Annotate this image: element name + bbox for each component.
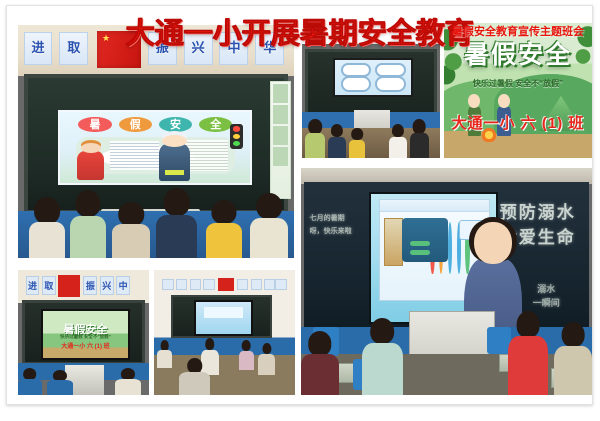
slide-bubble [341, 76, 371, 92]
chalkboard: 暑假安全 快乐过暑假 安全不“放假” 大通一小 六 (1) 班 [22, 300, 145, 365]
photo-teacher-lesson-main: 七月的暑期 呀，快乐来啦 [301, 168, 592, 395]
pupil-silhouette [301, 331, 339, 395]
slide-cover-image [384, 218, 402, 266]
slide-bubble [375, 63, 406, 77]
slide-bubble [375, 76, 406, 92]
pupil-silhouette [349, 128, 366, 158]
pupil-silhouette [410, 119, 429, 158]
chalkboard-left-text: 七月的暑期 呀，快乐来啦 [310, 212, 358, 239]
pupil-silhouette [362, 318, 403, 395]
poster-title-char: 全 [199, 117, 232, 133]
pupil-silhouette [328, 124, 346, 158]
play-button[interactable] [410, 241, 430, 246]
pupil-silhouette [305, 119, 326, 158]
slide-content [204, 307, 243, 318]
wall-card [190, 279, 201, 290]
pupil-silhouette [47, 370, 73, 395]
pupil-silhouette [179, 358, 210, 396]
slide-subtitle: 快乐过暑假 安全不“放假” [43, 334, 127, 340]
poster-class-label: 大通一小 六 (1) 班 [444, 112, 592, 133]
wall-notice-board [270, 81, 291, 200]
poster-title-char: 安 [159, 117, 192, 133]
wall-card [203, 279, 214, 290]
pupil-silhouette [508, 311, 549, 395]
pupil-silhouette [70, 190, 106, 258]
toolbar-dot-icon [448, 222, 452, 274]
wall-card [237, 279, 248, 290]
next-page-button[interactable] [410, 250, 430, 255]
safety-poster: 暑 假 安 全 [58, 110, 252, 185]
slide-class: 大通一小 六 (1) 班 [43, 341, 127, 350]
wall-card: 振 [83, 276, 97, 295]
poster-title-char: 暑 [78, 117, 111, 133]
wall-card [251, 279, 262, 290]
chalkboard-small-text: 溺水 一瞬间 [515, 283, 578, 310]
photo-classroom-poster-large: 进 取 振 兴 中 华 暑 假 安 全 [18, 25, 294, 258]
pupil-silhouette [157, 340, 173, 368]
photo-classroom-screen-topright [302, 44, 440, 158]
slide-bubble [341, 63, 371, 77]
traffic-light-icon [230, 124, 243, 148]
pupil-silhouette [389, 124, 407, 158]
window-titlebar [380, 200, 489, 212]
pupil-silhouette [18, 368, 42, 396]
wall-card [275, 279, 286, 290]
china-flag-icon [218, 278, 234, 292]
chalkboard [171, 295, 273, 338]
poster-text-block [110, 141, 159, 169]
traffic-police-figure [159, 144, 189, 181]
wall-cards [162, 279, 286, 290]
photo-classroom-green-slide: 进 取 振 兴 中 暑假安全 快乐过暑假 安全不“放假” 大通一小 六 (1) … [18, 270, 149, 395]
photo-collage: 进 取 振 兴 中 华 暑 假 安 全 [0, 0, 600, 421]
pupil-silhouette [112, 202, 151, 258]
poster-title: 暑 假 安 全 [68, 115, 243, 134]
wall-card: 中 [116, 276, 130, 295]
pupil-silhouette [29, 197, 65, 258]
pupil-silhouette [250, 193, 289, 258]
wall-cards: 进 取 振 兴 中 [21, 276, 147, 295]
chalkboard: 七月的暑期 呀，快乐来啦 [304, 182, 589, 332]
pupil-silhouette [206, 200, 242, 258]
wall-card [264, 279, 275, 290]
photo-classroom-wide-bottom [154, 270, 295, 395]
poster-title-char: 假 [119, 117, 152, 133]
poster-subtitle: 快乐过暑假 安全不“放假” [444, 78, 592, 89]
smartboard-screen [194, 300, 253, 336]
pupil-silhouette [115, 368, 141, 396]
wall-card [176, 279, 187, 290]
pupil-silhouette [239, 340, 255, 370]
poster-overlay-red-text: 暑假安全教育宣传主题班会 [444, 23, 592, 39]
child-figure [77, 151, 104, 179]
pupil-silhouette [156, 188, 197, 258]
pupil-silhouette [554, 322, 592, 395]
projected-slide: 暑假安全 快乐过暑假 安全不“放假” 大通一小 六 (1) 班 [41, 309, 129, 360]
wall-card: 兴 [100, 276, 114, 295]
china-flag-icon [58, 275, 79, 297]
slide-panel [402, 218, 448, 262]
wall-card [162, 279, 173, 290]
chalkboard [305, 49, 437, 120]
wall-card: 进 [26, 276, 40, 295]
wall-card: 取 [42, 276, 56, 295]
pupil-silhouette [258, 343, 275, 376]
smartboard-screen [333, 58, 413, 97]
